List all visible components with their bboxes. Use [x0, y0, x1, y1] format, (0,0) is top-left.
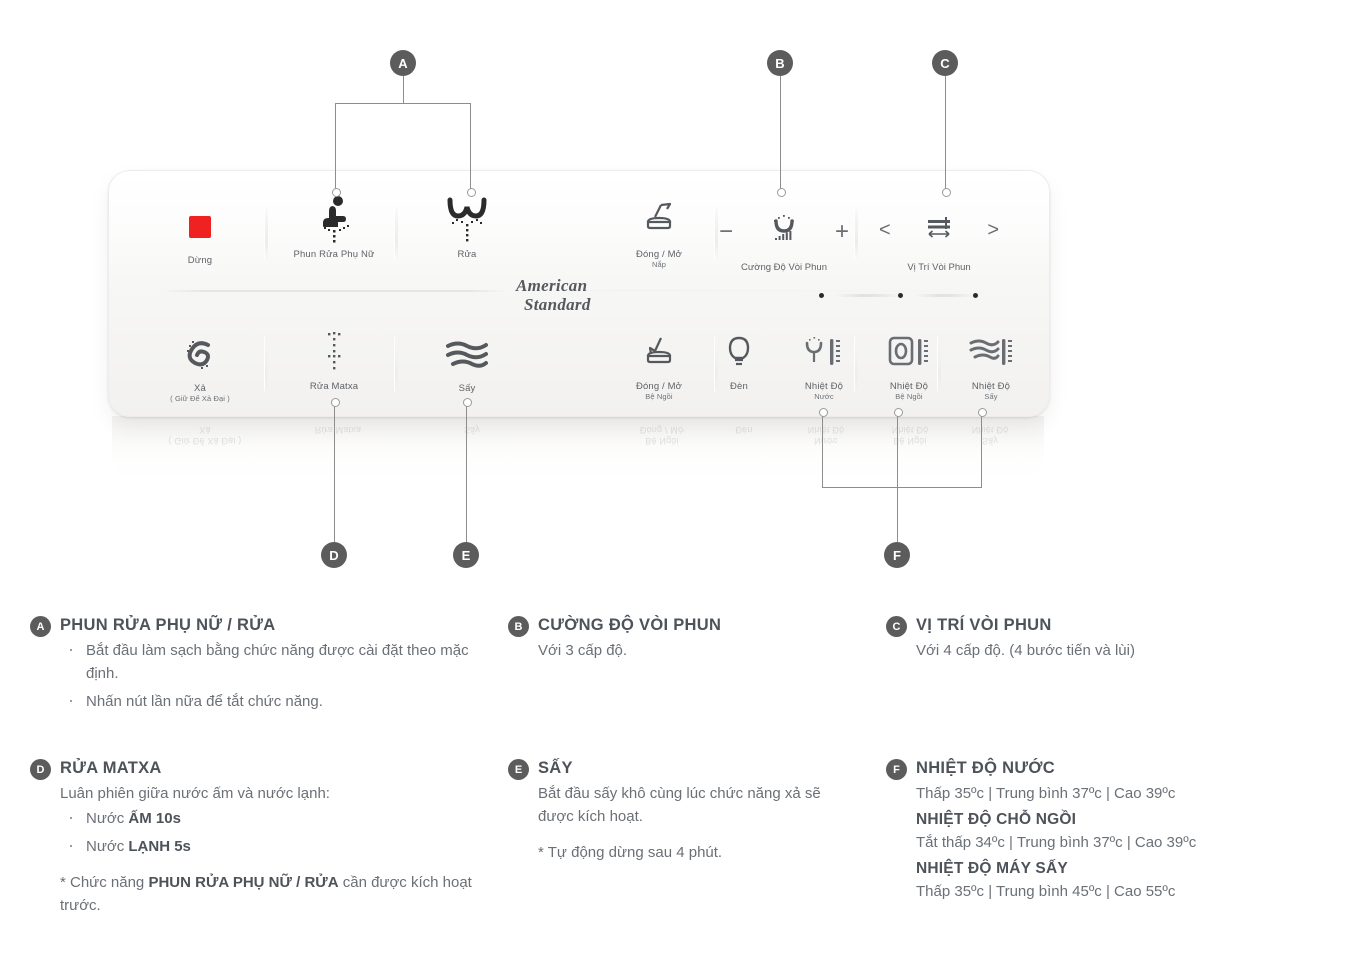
- button-dryer-temperature[interactable]: Nhiệt Độ Sấy: [931, 329, 1050, 402]
- section-c: C VỊ TRÍ VÒI PHUN Với 4 cấp độ. (4 bước …: [886, 615, 1326, 662]
- spray-pressure-label: Cường Độ Vòi Phun: [719, 262, 849, 273]
- button-feminine-wash-label: Phun Rửa Phụ Nữ: [274, 249, 394, 260]
- note-prefix: * Chức năng: [60, 874, 148, 891]
- button-wash-label: Rửa: [407, 249, 527, 260]
- list-item-prefix: Nước: [86, 810, 128, 827]
- section-e-text: Bắt đầu sấy khô cùng lúc chức năng xả sẽ…: [538, 782, 858, 828]
- key-separator: [394, 204, 398, 260]
- section-a-badge: A: [30, 616, 51, 637]
- button-wash[interactable]: Rửa: [407, 197, 527, 260]
- stop-square-icon: [140, 203, 260, 251]
- indicator-dot: [973, 293, 978, 298]
- section-e-title: SẤY: [538, 758, 858, 778]
- leader-endpoint-a-right: [467, 188, 476, 197]
- flush-spiral-icon: [140, 331, 260, 379]
- massage-wash-icon: [274, 329, 394, 377]
- section-d-list: Nước ẤM 10s Nước LẠNH 5s: [60, 807, 490, 858]
- indicator-dot: [819, 293, 824, 298]
- leader-line-a-stem: [403, 76, 404, 104]
- panel-row-divider: [161, 290, 509, 292]
- section-f-title: NHIỆT ĐỘ NƯỚC: [916, 758, 1336, 778]
- leader-line-f-stem: [897, 415, 898, 542]
- list-item: Bắt đầu làm sạch bằng chức năng được cài…: [60, 639, 480, 685]
- section-b-title: CƯỜNG ĐỘ VÒI PHUN: [538, 615, 868, 635]
- leader-line-a-bracket: [335, 103, 471, 104]
- pressure-plus-button[interactable]: +: [835, 220, 849, 244]
- callout-badge-d: D: [321, 542, 347, 568]
- section-d-text: Luân phiên giữa nước ấm và nước lạnh:: [60, 782, 490, 805]
- position-next-button[interactable]: >: [987, 220, 999, 240]
- reflection-text: Rửa Matxa: [278, 424, 398, 435]
- button-feminine-wash[interactable]: Phun Rửa Phụ Nữ: [274, 197, 394, 260]
- nozzle-position-icon: [920, 209, 958, 250]
- list-item-strong: LẠNH 5s: [128, 838, 191, 855]
- section-e: E SẤY Bắt đầu sấy khô cùng lúc chức năng…: [508, 758, 858, 864]
- lid-open-close-icon: [599, 197, 719, 245]
- reflection-text: Sấy: [412, 424, 532, 435]
- section-c-badge: C: [886, 616, 907, 637]
- section-b-badge: B: [508, 616, 529, 637]
- indicator-dots: [795, 290, 995, 302]
- section-f-line2: Tắt thấp 34ºc | Trung bình 37ºc | Cao 39…: [916, 831, 1336, 854]
- spray-pressure-icon: [764, 209, 804, 254]
- leader-line-a-right: [470, 103, 471, 191]
- brand-logo: American Standard: [516, 276, 591, 314]
- leader-endpoint-f-1: [819, 408, 828, 417]
- button-lid-label: Đóng / Mở: [599, 249, 719, 260]
- button-dryer-temp-sublabel: Sấy: [931, 392, 1050, 402]
- feminine-wash-icon: [274, 197, 394, 245]
- section-f: F NHIỆT ĐỘ NƯỚC Thấp 35ºc | Trung bình 3…: [886, 758, 1336, 903]
- leader-endpoint-f-2: [894, 408, 903, 417]
- button-dry-label: Sấy: [407, 383, 527, 394]
- reflection-text: SấyNhiệt Độ: [930, 424, 1050, 446]
- brand-logo-line2: Standard: [516, 295, 591, 314]
- callout-badge-b: B: [767, 50, 793, 76]
- leader-line-b: [780, 76, 781, 191]
- section-d-note: * Chức năng PHUN RỬA PHỤ NỮ / RỬA cần đư…: [60, 871, 490, 917]
- indicator-dot: [898, 293, 903, 298]
- leader-line-f-right: [981, 415, 982, 487]
- callout-badge-f: F: [884, 542, 910, 568]
- button-lid-open-close[interactable]: Đóng / Mở Nắp: [599, 197, 719, 270]
- section-e-badge: E: [508, 759, 529, 780]
- nozzle-position-label: Vị Trí Vòi Phun: [874, 262, 1004, 273]
- illustration-stage: A B C Dừng: [0, 0, 1355, 958]
- brand-logo-line1: American: [516, 276, 587, 295]
- section-f-title2: NHIỆT ĐỘ CHỖ NGỒI: [916, 808, 1336, 831]
- button-massage-wash[interactable]: Rửa Matxa: [274, 329, 394, 392]
- leader-line-e: [466, 405, 467, 542]
- indicator-track: [915, 294, 977, 297]
- leader-line-f-left: [822, 415, 823, 487]
- list-item-strong: ẤM 10s: [128, 810, 181, 827]
- callout-badge-a: A: [390, 50, 416, 76]
- button-massage-label: Rửa Matxa: [274, 381, 394, 392]
- nozzle-position-group: < >: [879, 209, 999, 250]
- leader-line-c: [945, 76, 946, 191]
- section-c-title: VỊ TRÍ VÒI PHUN: [916, 615, 1326, 635]
- list-item: Nhấn nút lần nữa để tắt chức năng.: [60, 690, 480, 713]
- section-a-list: Bắt đầu làm sạch bằng chức năng được cài…: [60, 639, 480, 713]
- button-flush-label: Xả: [140, 383, 260, 394]
- button-lid-sublabel: Nắp: [599, 260, 719, 270]
- position-prev-button[interactable]: <: [879, 220, 891, 240]
- key-separator: [854, 204, 858, 260]
- pressure-minus-button[interactable]: −: [719, 220, 733, 244]
- section-a: A PHUN RỬA PHỤ NỮ / RỬA Bắt đầu làm sạch…: [30, 615, 480, 718]
- leader-endpoint-a-left: [332, 188, 341, 197]
- section-c-text: Với 4 cấp độ. (4 bước tiến và lùi): [916, 639, 1326, 662]
- button-stop-label: Dừng: [140, 255, 260, 266]
- key-separator: [394, 336, 398, 392]
- leader-endpoint-b: [777, 188, 786, 197]
- note-strong: PHUN RỬA PHỤ NỮ / RỬA: [148, 874, 338, 891]
- leader-endpoint-c: [942, 188, 951, 197]
- spray-pressure-group: −: [719, 209, 849, 254]
- leader-line-f-bracket: [822, 487, 982, 488]
- leader-endpoint-d: [331, 398, 340, 407]
- section-f-line1: Thấp 35ºc | Trung bình 37ºc | Cao 39ºc: [916, 782, 1336, 805]
- list-item-prefix: Nước: [86, 838, 128, 855]
- indicator-track: [835, 294, 903, 297]
- leader-endpoint-e: [463, 398, 472, 407]
- section-b-text: Với 3 cấp độ.: [538, 639, 868, 662]
- rear-wash-icon: [407, 197, 527, 245]
- section-d-title: RỬA MATXA: [60, 758, 490, 778]
- section-a-title: PHUN RỬA PHỤ NỮ / RỬA: [60, 615, 480, 635]
- leader-line-d: [334, 405, 335, 542]
- section-f-badge: F: [886, 759, 907, 780]
- button-seat-sublabel: Bệ Ngồi: [599, 392, 719, 402]
- leader-endpoint-f-3: [978, 408, 987, 417]
- section-f-line3: Thấp 35ºc | Trung bình 45ºc | Cao 55ºc: [916, 880, 1336, 903]
- reflection-text: ( Giữ Để Xả Đại )Xả: [145, 424, 265, 446]
- callout-badge-c: C: [932, 50, 958, 76]
- button-flush-sublabel: ( Giữ Để Xả Đại ): [140, 394, 260, 404]
- section-d: D RỬA MATXA Luân phiên giữa nước ấm và n…: [30, 758, 490, 917]
- list-item: Nước LẠNH 5s: [60, 835, 490, 858]
- leader-line-a-left: [335, 103, 336, 191]
- section-b: B CƯỜNG ĐỘ VÒI PHUN Với 3 cấp độ.: [508, 615, 868, 662]
- key-separator: [264, 336, 268, 392]
- dryer-waves-icon: [407, 331, 527, 379]
- button-flush[interactable]: Xả ( Giữ Để Xả Đại ): [140, 331, 260, 404]
- section-d-badge: D: [30, 759, 51, 780]
- button-dryer-temp-label: Nhiệt Độ: [931, 381, 1050, 392]
- button-stop[interactable]: Dừng: [140, 203, 260, 266]
- dryer-temperature-icon: [931, 329, 1050, 377]
- section-e-note: * Tự động dừng sau 4 phút.: [538, 841, 858, 864]
- key-separator: [264, 204, 268, 260]
- callout-badge-e: E: [453, 542, 479, 568]
- list-item: Nước ẤM 10s: [60, 807, 490, 830]
- button-dry[interactable]: Sấy: [407, 331, 527, 394]
- section-f-title3: NHIỆT ĐỘ MÁY SẤY: [916, 857, 1336, 880]
